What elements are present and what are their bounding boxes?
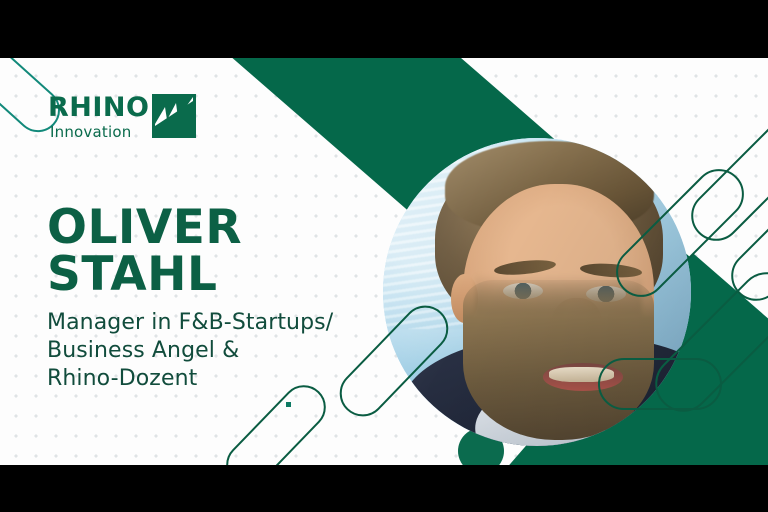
rhino-mountain-mark-icon [152,94,196,138]
brand-logo[interactable]: RHINO Innovation [48,95,196,141]
letterbox-bar-bottom [0,465,768,512]
logo-wordmark: RHINO [48,95,149,121]
speaker-role-line-2: Business Angel & [47,337,333,365]
speaker-role-line-3: Rhino-Dozent [47,365,333,393]
speaker-last-name: STAHL [47,251,242,298]
card-canvas: RHINO Innovation OLIVER STAHL Manager in… [0,58,768,465]
stadium-outline-right-e [598,358,722,410]
logo-tagline: Innovation [50,123,149,141]
speaker-first-name: OLIVER [47,204,242,251]
speaker-role: Manager in F&B-Startups/ Business Angel … [47,309,333,393]
speaker-card-screenshot: RHINO Innovation OLIVER STAHL Manager in… [0,0,768,512]
page-title: OLIVER STAHL [47,204,242,298]
letterbox-bar-top [0,0,768,58]
speaker-role-line-1: Manager in F&B-Startups/ [47,309,333,337]
